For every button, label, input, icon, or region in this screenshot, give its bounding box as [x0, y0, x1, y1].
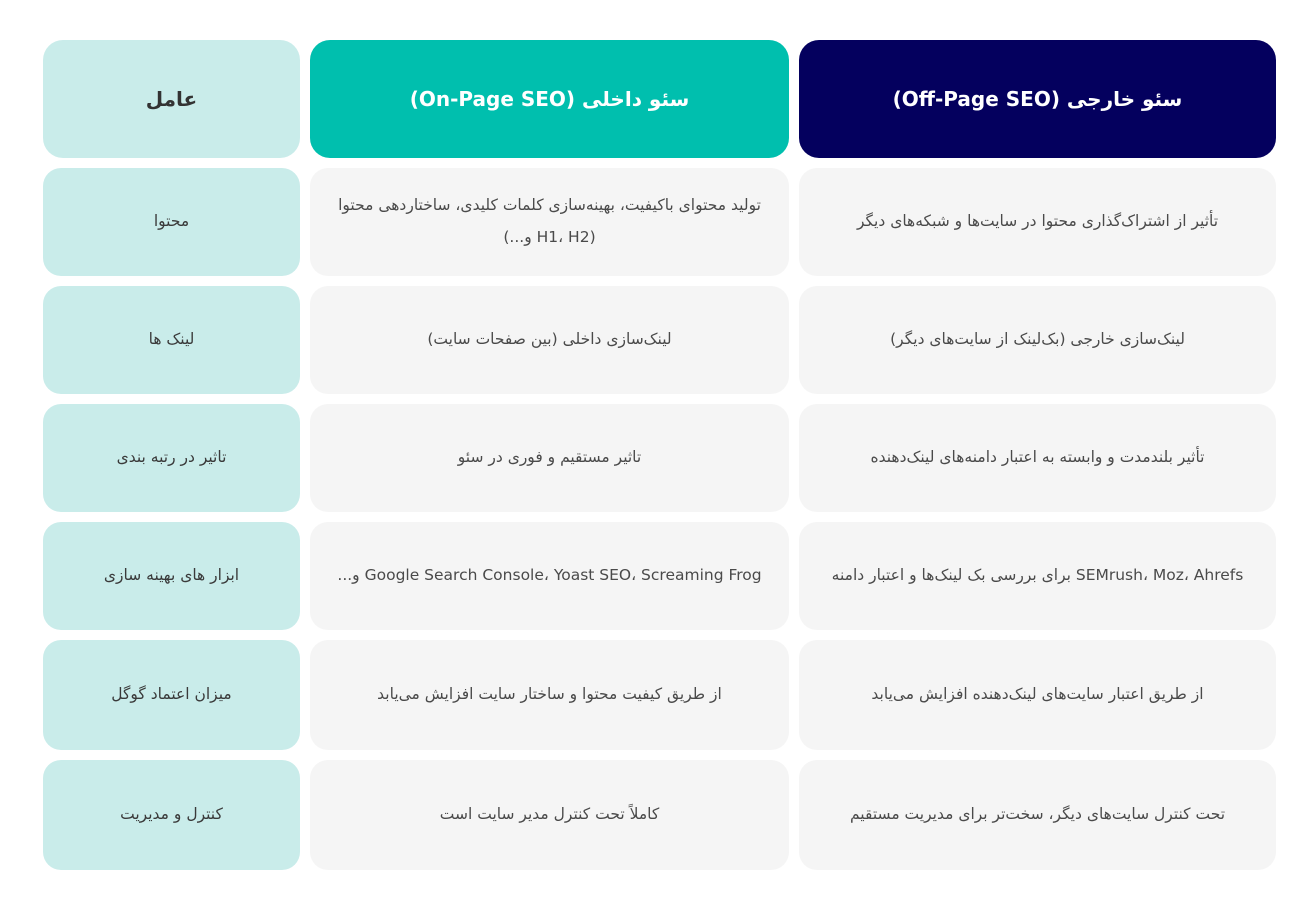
- cell-on-page-tools: Google Search Console، Yoast SEO، Scream…: [310, 522, 789, 630]
- cell-text: لینک‌سازی خارجی (بک‌لینک از سایت‌های دیگ…: [890, 324, 1185, 356]
- cell-text: لینک‌سازی داخلی (بین صفحات سایت): [427, 324, 671, 356]
- cell-text: کنترل و مدیریت: [120, 799, 223, 831]
- cell-factor-tools: ابزار های بهینه سازی: [43, 522, 300, 630]
- cell-text: میزان اعتماد گوگل: [111, 679, 231, 711]
- cell-off-page-ranking: تأثیر بلندمدت و وابسته به اعتبار دامنه‌ه…: [799, 404, 1276, 512]
- cell-text: تاثیر در رتبه بندی: [117, 442, 227, 474]
- cell-text: تحت کنترل سایت‌های دیگر، سخت‌تر برای مدی…: [850, 799, 1225, 831]
- cell-off-page-control: تحت کنترل سایت‌های دیگر، سخت‌تر برای مدی…: [799, 760, 1276, 870]
- column-header-factor: عامل: [43, 40, 300, 158]
- column-header-on-page-label: سئو داخلی (On-Page SEO): [410, 79, 690, 120]
- cell-text: کاملاً تحت کنترل مدیر سایت است: [440, 799, 659, 831]
- cell-text: تولید محتوای باکیفیت، بهینه‌سازی کلمات ک…: [332, 190, 767, 254]
- table-row: تحت کنترل سایت‌های دیگر، سخت‌تر برای مدی…: [40, 760, 1276, 870]
- cell-text: لینک ها: [149, 324, 195, 356]
- column-header-on-page: سئو داخلی (On-Page SEO): [310, 40, 789, 158]
- cell-on-page-trust: از طریق کیفیت محتوا و ساختار سایت افزایش…: [310, 640, 789, 750]
- cell-on-page-content: تولید محتوای باکیفیت، بهینه‌سازی کلمات ک…: [310, 168, 789, 276]
- table-header-row: سئو خارجی (Off-Page SEO) سئو داخلی (On-P…: [40, 40, 1276, 158]
- cell-off-page-trust: از طریق اعتبار سایت‌های لینک‌دهنده افزای…: [799, 640, 1276, 750]
- cell-factor-control: کنترل و مدیریت: [43, 760, 300, 870]
- table-row: تأثیر از اشتراک‌گذاری محتوا در سایت‌ها و…: [40, 168, 1276, 276]
- column-header-factor-label: عامل: [146, 79, 197, 120]
- cell-off-page-tools: SEMrush، Moz، Ahrefs برای بررسی بک لینک‌…: [799, 522, 1276, 630]
- table-row: از طریق اعتبار سایت‌های لینک‌دهنده افزای…: [40, 640, 1276, 750]
- cell-text: SEMrush، Moz، Ahrefs برای بررسی بک لینک‌…: [832, 560, 1244, 592]
- cell-text: از طریق کیفیت محتوا و ساختار سایت افزایش…: [377, 679, 722, 711]
- seo-comparison-table: سئو خارجی (Off-Page SEO) سئو داخلی (On-P…: [40, 40, 1276, 870]
- cell-factor-trust: میزان اعتماد گوگل: [43, 640, 300, 750]
- cell-on-page-links: لینک‌سازی داخلی (بین صفحات سایت): [310, 286, 789, 394]
- column-header-off-page-label: سئو خارجی (Off-Page SEO): [893, 79, 1183, 120]
- table-row: تأثیر بلندمدت و وابسته به اعتبار دامنه‌ه…: [40, 404, 1276, 512]
- column-header-off-page: سئو خارجی (Off-Page SEO): [799, 40, 1276, 158]
- cell-text: تأثیر بلندمدت و وابسته به اعتبار دامنه‌ه…: [871, 442, 1205, 474]
- cell-factor-links: لینک ها: [43, 286, 300, 394]
- cell-text: از طریق اعتبار سایت‌های لینک‌دهنده افزای…: [871, 679, 1203, 711]
- cell-text: تأثیر از اشتراک‌گذاری محتوا در سایت‌ها و…: [857, 206, 1218, 238]
- cell-factor-content: محتوا: [43, 168, 300, 276]
- cell-on-page-ranking: تاثیر مستقیم و فوری در سئو: [310, 404, 789, 512]
- cell-text: ابزار های بهینه سازی: [104, 560, 239, 592]
- table-row: SEMrush، Moz، Ahrefs برای بررسی بک لینک‌…: [40, 522, 1276, 630]
- cell-on-page-control: کاملاً تحت کنترل مدیر سایت است: [310, 760, 789, 870]
- table-row: لینک‌سازی خارجی (بک‌لینک از سایت‌های دیگ…: [40, 286, 1276, 394]
- cell-text: محتوا: [154, 206, 189, 238]
- cell-text: تاثیر مستقیم و فوری در سئو: [458, 442, 641, 474]
- cell-off-page-links: لینک‌سازی خارجی (بک‌لینک از سایت‌های دیگ…: [799, 286, 1276, 394]
- cell-text: Google Search Console، Yoast SEO، Scream…: [337, 560, 761, 592]
- cell-factor-ranking: تاثیر در رتبه بندی: [43, 404, 300, 512]
- cell-off-page-content: تأثیر از اشتراک‌گذاری محتوا در سایت‌ها و…: [799, 168, 1276, 276]
